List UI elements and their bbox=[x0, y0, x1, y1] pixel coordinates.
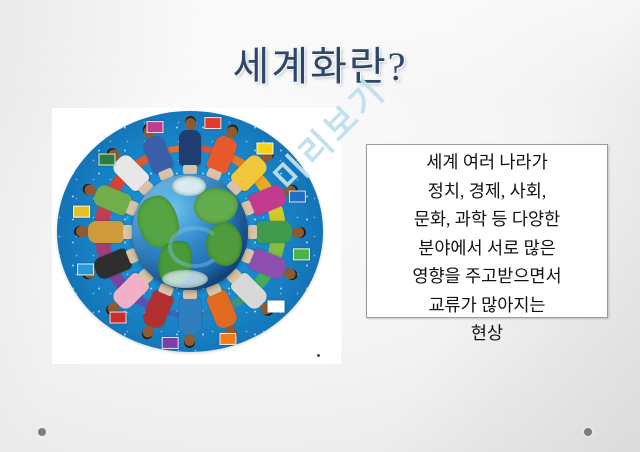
definition-text: 세계 여러 나라가정치, 경제, 사회,문화, 과학 등 다양한분야에서 서로 … bbox=[360, 148, 614, 348]
child-head bbox=[76, 226, 88, 237]
earth-globe-icon bbox=[132, 174, 248, 290]
child-legs bbox=[123, 225, 132, 239]
polar-ice-cap bbox=[162, 270, 208, 288]
children-around-the-world-illustration bbox=[57, 111, 323, 352]
polar-ice-cap bbox=[172, 176, 206, 196]
child-legs bbox=[183, 290, 197, 299]
country-flag bbox=[147, 121, 164, 133]
definition-line: 현상 bbox=[360, 319, 614, 348]
country-flag bbox=[77, 263, 94, 275]
stray-mark bbox=[317, 354, 320, 357]
child-costume bbox=[179, 298, 201, 334]
child-head bbox=[184, 334, 195, 346]
child-figure bbox=[250, 221, 306, 243]
presentation-slide: 세계화란? 미리보기 세계 여러 나라가정치, 경제, 사회,문화, 과학 등 … bbox=[0, 0, 640, 452]
child-legs bbox=[183, 165, 197, 174]
child-figure bbox=[179, 116, 201, 172]
country-flag bbox=[268, 300, 285, 312]
country-flag bbox=[110, 311, 127, 323]
country-flag bbox=[98, 153, 115, 165]
definition-line: 문화, 과학 등 다양한 bbox=[360, 205, 614, 234]
child-figure bbox=[179, 292, 201, 348]
definition-line: 교류가 많아지는 bbox=[360, 291, 614, 320]
country-flag bbox=[256, 142, 273, 154]
country-flag bbox=[219, 332, 236, 344]
child-head bbox=[185, 118, 196, 130]
definition-line: 영향을 주고받으면서 bbox=[360, 262, 614, 291]
slide-title: 세계화란? bbox=[0, 46, 640, 88]
child-head bbox=[292, 227, 304, 238]
child-figure bbox=[74, 221, 130, 243]
definition-line: 정치, 경제, 사회, bbox=[360, 177, 614, 206]
child-costume bbox=[256, 221, 292, 243]
decorative-dot bbox=[584, 428, 592, 436]
country-flag bbox=[204, 117, 221, 129]
child-costume bbox=[88, 221, 124, 243]
country-flag bbox=[293, 248, 310, 260]
child-costume bbox=[179, 130, 201, 166]
country-flag bbox=[162, 336, 179, 348]
cloud-swirl bbox=[168, 226, 222, 268]
decorative-dot bbox=[38, 428, 46, 436]
definition-line: 분야에서 서로 많은 bbox=[360, 234, 614, 263]
definition-line: 세계 여러 나라가 bbox=[360, 148, 614, 177]
child-legs bbox=[248, 225, 257, 239]
country-flag bbox=[289, 190, 306, 202]
country-flag bbox=[73, 205, 90, 217]
